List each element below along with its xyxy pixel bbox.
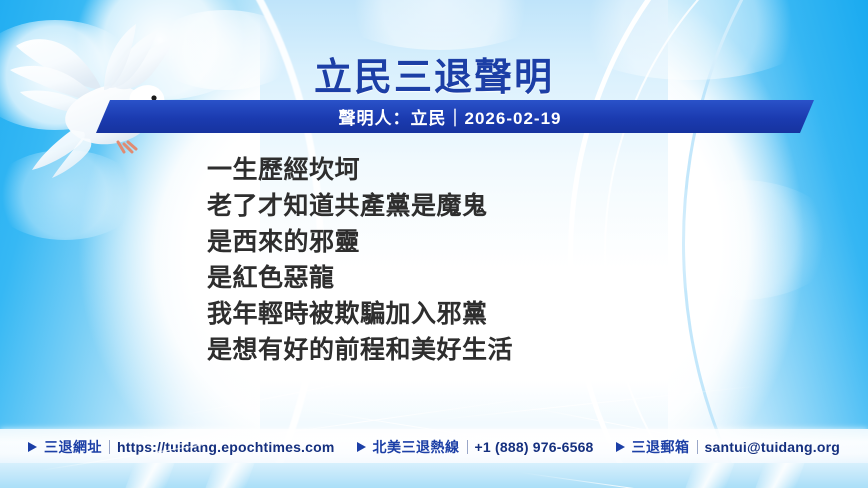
light-streak bbox=[755, 463, 804, 488]
statement-line: 我年輕時被欺騙加入邪黨 bbox=[207, 296, 727, 332]
statement-line: 是紅色惡龍 bbox=[207, 260, 727, 296]
footer-separator bbox=[697, 440, 698, 454]
footer-hotline-number[interactable]: +1 (888) 976-6568 bbox=[475, 439, 594, 455]
triangle-right-icon bbox=[616, 442, 625, 452]
footer-label: 三退網址 bbox=[44, 437, 102, 457]
light-streak bbox=[205, 463, 254, 488]
footer-label: 北美三退熱線 bbox=[373, 437, 460, 457]
statement-line: 是西來的邪靈 bbox=[207, 224, 727, 260]
light-streak bbox=[685, 463, 734, 488]
footer-item-email[interactable]: 三退郵箱 santui@tuidang.org bbox=[616, 437, 840, 457]
statement-body: 一生歷經坎坷 老了才知道共產黨是魔鬼 是西來的邪靈 是紅色惡龍 我年輕時被欺騙加… bbox=[207, 152, 727, 368]
footer-separator bbox=[467, 440, 468, 454]
statement-line: 一生歷經坎坷 bbox=[207, 152, 727, 188]
triangle-right-icon bbox=[357, 442, 366, 452]
footer-separator bbox=[109, 440, 110, 454]
statement-line: 是想有好的前程和美好生活 bbox=[207, 332, 727, 368]
light-streak bbox=[125, 463, 174, 488]
page-title: 立民三退聲明 bbox=[0, 46, 868, 101]
footer-bar: 三退網址 https://tuidang.epochtimes.com 北美三退… bbox=[0, 429, 868, 465]
triangle-right-icon bbox=[28, 442, 37, 452]
footer-item-hotline[interactable]: 北美三退熱線 +1 (888) 976-6568 bbox=[357, 437, 594, 457]
footer-label: 三退郵箱 bbox=[632, 437, 690, 457]
declarant-bar-text: 聲明人：立民｜2026-02-19 bbox=[339, 104, 562, 129]
footer-email-address[interactable]: santui@tuidang.org bbox=[705, 439, 840, 455]
declarant-bar: 聲明人：立民｜2026-02-19 bbox=[96, 100, 814, 133]
poster-canvas: 立民三退聲明 聲明人：立民｜2026-02-19 一生歷經坎坷 老了才知道共產黨… bbox=[0, 0, 868, 488]
bottom-accent-strip bbox=[0, 463, 868, 488]
statement-line: 老了才知道共產黨是魔鬼 bbox=[207, 188, 727, 224]
